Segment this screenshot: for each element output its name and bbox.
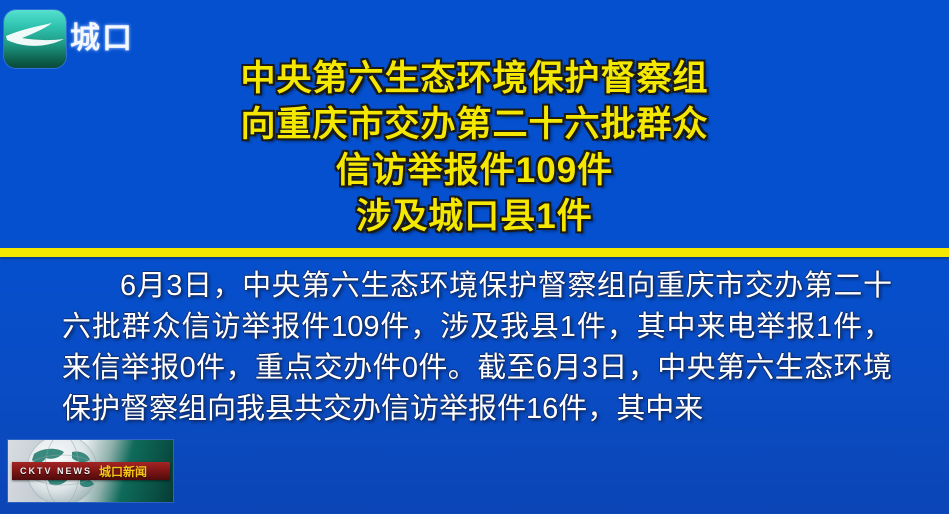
- news-ident-banner: CKTV NEWS 城口新闻: [12, 462, 170, 480]
- headline-line-2: 向重庆市交办第二十六批群众: [0, 102, 949, 148]
- headline-line-4: 涉及城口县1件: [0, 194, 949, 240]
- news-body-text: 6月3日，中央第六生态环境保护督察组向重庆市交办第二十六批群众信访举报件109件…: [62, 266, 892, 430]
- news-ident-chinese-label: 城口新闻: [92, 463, 147, 480]
- headline-line-3: 信访举报件109件: [0, 148, 949, 194]
- headline-divider: [0, 248, 949, 257]
- headline-line-1: 中央第六生态环境保护督察组: [0, 56, 949, 102]
- news-ident-english-label: CKTV NEWS: [12, 466, 92, 476]
- channel-bug-label: 城口: [70, 24, 134, 54]
- broadcast-news-lower-third-screen: 城口 中央第六生态环境保护督察组 向重庆市交办第二十六批群众 信访举报件109件…: [0, 0, 949, 514]
- headline-block: 中央第六生态环境保护督察组 向重庆市交办第二十六批群众 信访举报件109件 涉及…: [0, 56, 949, 240]
- news-ident-watermark: CKTV NEWS 城口新闻: [8, 440, 173, 502]
